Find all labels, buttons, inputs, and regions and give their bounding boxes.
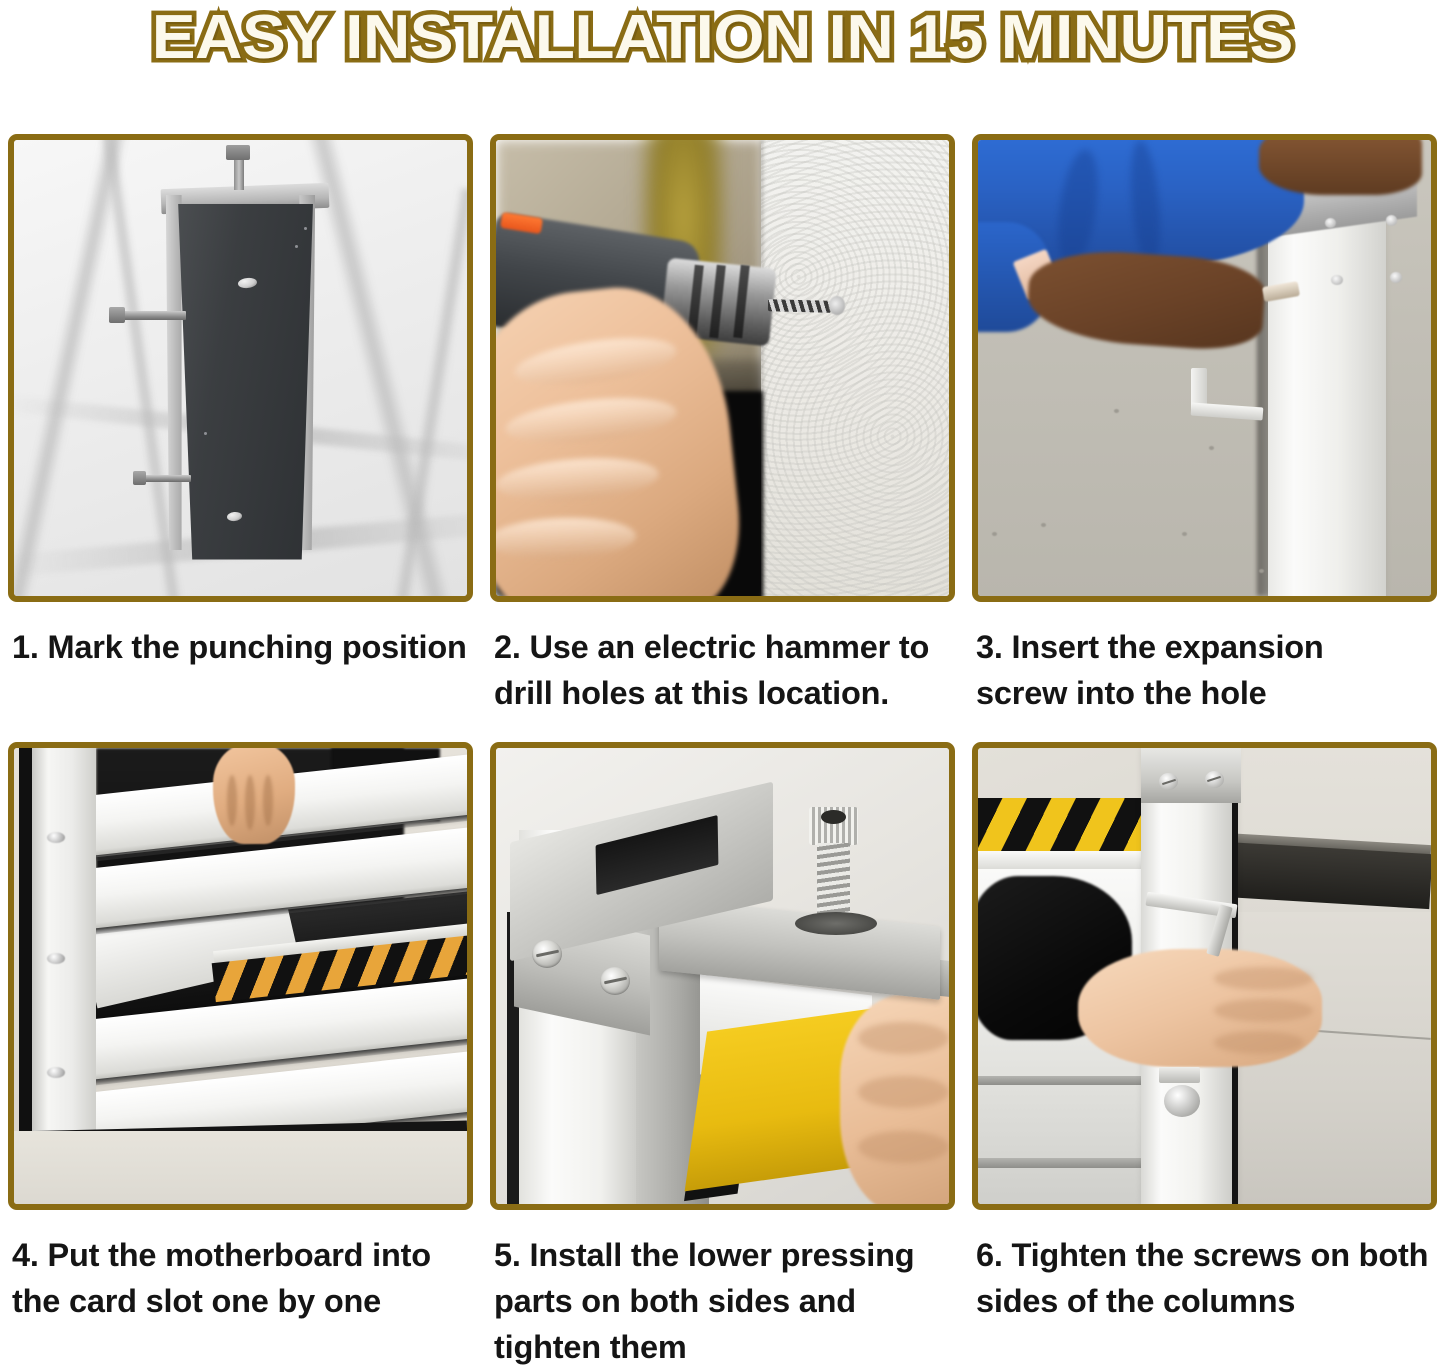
- floor-speck: [1259, 569, 1264, 573]
- step-5-photo-frame: [490, 742, 955, 1210]
- finger: [1214, 967, 1314, 990]
- textured-wall: [761, 140, 949, 596]
- finger: [858, 1022, 949, 1054]
- knurled-thumb-screw: [809, 807, 859, 926]
- step-4-caption: 4. Put the motherboard into the card slo…: [8, 1232, 473, 1324]
- lower-bolt-shaft: [1159, 1067, 1200, 1083]
- bracket-screw: [600, 967, 630, 995]
- allen-key-tool: [1146, 898, 1237, 962]
- step-2-photo-frame: [490, 134, 955, 602]
- floor: [14, 1131, 467, 1204]
- page-title: EASY INSTALLATION IN 15 MINUTES: [152, 2, 1293, 74]
- step-4-photo-motherboard-card-slot: [14, 748, 467, 1204]
- allen-key-long-arm: [1191, 403, 1264, 421]
- thumb-screw-seat-hole: [795, 912, 877, 935]
- drill-bit-tip: [829, 296, 845, 314]
- finger: [245, 775, 255, 830]
- floor-speck: [992, 532, 997, 536]
- hazard-stripe-tape: [978, 798, 1141, 853]
- step-1-photo-frame: [8, 134, 473, 602]
- step-2-caption: 2. Use an electric hammer to drill holes…: [490, 624, 955, 716]
- finger: [263, 775, 273, 825]
- column-cap-screw: [1205, 771, 1224, 788]
- step-cell-4: 4. Put the motherboard into the card slo…: [8, 742, 473, 1370]
- speck: [295, 245, 298, 248]
- infographic-page: EASY INSTALLATION IN 15 MINUTES: [0, 0, 1445, 1352]
- step-5-photo-lower-pressing-parts: [496, 748, 949, 1204]
- board-seam: [978, 1158, 1150, 1167]
- title-bar: EASY INSTALLATION IN 15 MINUTES: [0, 0, 1445, 96]
- worker-right-hand: [1259, 140, 1422, 195]
- step-3-photo-frame: [972, 134, 1437, 602]
- column-screw: [47, 953, 65, 964]
- step-cell-3: 3. Insert the expansion screw into the h…: [972, 134, 1437, 716]
- thumb-screw-hex-socket: [821, 810, 847, 824]
- steps-grid: 1. Mark the punching position: [8, 134, 1438, 1370]
- step-cell-5: 5. Install the lower pressing parts on b…: [490, 742, 955, 1370]
- step-6-caption: 6. Tighten the screws on both sides of t…: [972, 1232, 1437, 1324]
- bracket-screw: [532, 940, 562, 968]
- step-5-caption: 5. Install the lower pressing parts on b…: [490, 1232, 955, 1370]
- allen-key-on-floor: [1191, 368, 1263, 432]
- hazard-panel-bottom-edge: [978, 851, 1141, 869]
- step-4-photo-frame: [8, 742, 473, 1210]
- column-screw: [47, 1067, 65, 1078]
- step-cell-1: 1. Mark the punching position: [8, 134, 473, 716]
- mounting-column: [173, 204, 313, 560]
- finger: [1214, 1031, 1305, 1054]
- speck: [304, 227, 307, 230]
- finger: [227, 775, 237, 825]
- steps-row-bottom: 4. Put the motherboard into the card slo…: [8, 742, 1438, 1370]
- expansion-bolt-upper: [114, 311, 186, 320]
- bolt-head-lower: [133, 471, 147, 485]
- board-seam: [978, 1076, 1150, 1085]
- finger: [1214, 999, 1314, 1022]
- step-1-photo-mark-punching-position: [14, 140, 467, 596]
- step-cell-6: 6. Tighten the screws on both sides of t…: [972, 742, 1437, 1370]
- step-1-caption: 1. Mark the punching position: [8, 624, 473, 670]
- top-stud-cap: [226, 145, 250, 161]
- floor-speck: [1114, 409, 1119, 413]
- finger: [858, 1131, 949, 1163]
- bolt-head-upper: [109, 307, 124, 323]
- step-6-photo-tighten-screws: [978, 748, 1431, 1204]
- steps-row-top: 1. Mark the punching position: [8, 134, 1438, 716]
- step-6-photo-frame: [972, 742, 1437, 1210]
- step-3-photo-insert-expansion-screw: [978, 140, 1431, 596]
- column-top-cap: [1141, 748, 1241, 803]
- step-2-photo-drill-holes: [496, 140, 949, 596]
- drill-bit: [768, 299, 832, 312]
- finger: [858, 1076, 949, 1108]
- floor-speck: [1209, 446, 1214, 450]
- step-cell-2: 2. Use an electric hammer to drill holes…: [490, 134, 955, 716]
- step-3-caption: 3. Insert the expansion screw into the h…: [972, 624, 1437, 716]
